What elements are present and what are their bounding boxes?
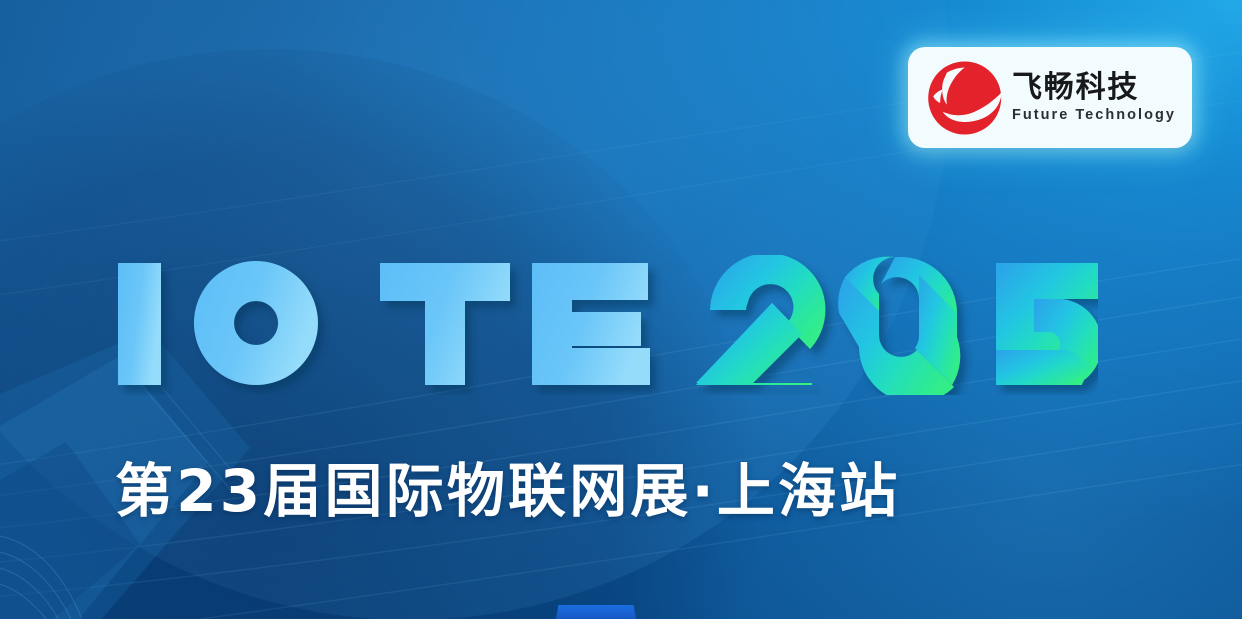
sponsor-logo-card[interactable]: 飞畅科技 Future Technology [908,47,1192,148]
sponsor-name-en: Future Technology [1012,107,1176,123]
bottom-accent-chip [556,605,636,619]
wordmark-iote-2025 [118,255,1098,395]
feichang-globe-mark-icon [920,59,1006,137]
sponsor-logo-text: 飞畅科技 Future Technology [1012,72,1176,124]
iote-2025-banner: 第23届国际物联网展·上海站 飞畅科技 Future Technology [0,0,1242,619]
page-subtitle: 第23届国际物联网展·上海站 [115,462,900,520]
sponsor-name-cn: 飞畅科技 [1012,72,1176,104]
iote-letters [118,261,650,385]
year-2025-letters [696,255,1098,395]
iote-2025-logotype-icon [118,255,1098,395]
